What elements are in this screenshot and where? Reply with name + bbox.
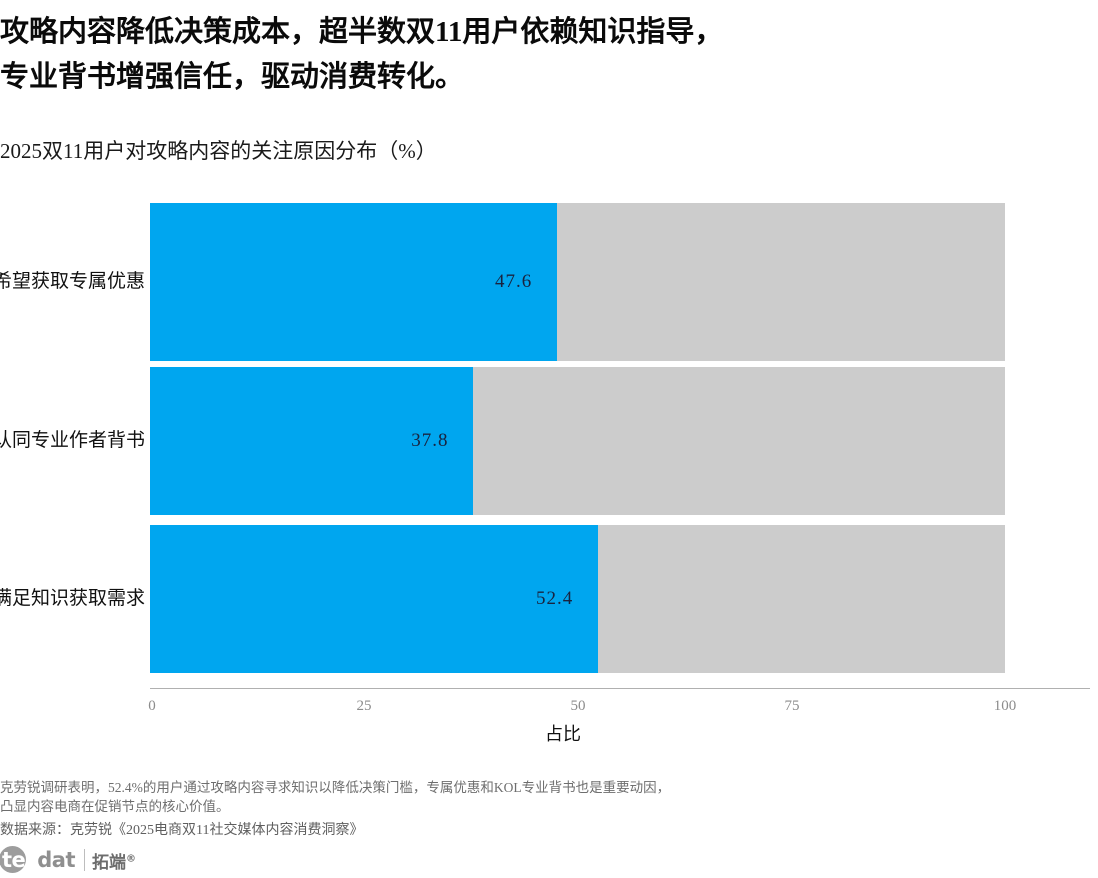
logo-mark: tecdat — [0, 845, 75, 875]
bar-value-label: 47.6 — [495, 271, 532, 293]
x-tick-label: 50 — [571, 698, 586, 715]
brand-logo: tecdat 拓端® — [0, 845, 136, 875]
category-label: 认同专业作者背书 — [0, 431, 143, 451]
bar-row: 52.4 — [150, 525, 1005, 673]
footer-note-line-1: 克劳锐调研表明，52.4%的用户通过攻略内容寻求知识以降低决策门槛，专属优惠和K… — [0, 778, 1090, 797]
bar-fill[interactable] — [150, 525, 598, 673]
bar-value-label: 37.8 — [411, 430, 448, 452]
registered-mark-icon: ® — [126, 853, 136, 864]
footer-source: 数据来源：克劳锐《2025电商双11社交媒体内容消费洞察》 — [0, 821, 1090, 840]
logo-chinese-name: 拓端® — [92, 848, 136, 873]
footer-note-line-2: 凸显内容电商在促销节点的核心价值。 — [0, 797, 1090, 816]
headline-line-1: 攻略内容降低决策成本，超半数双11用户依赖知识指导， — [0, 10, 1090, 55]
chart-plot-area: 47.6 希望获取专属优惠 37.8 认同专业作者背书 52.4 满足知识获取需… — [0, 195, 1098, 695]
x-axis-line — [150, 688, 1090, 689]
bar-row: 47.6 — [150, 203, 1005, 361]
logo-word-part-b: dat — [37, 848, 75, 872]
logo-wordmark: tecdat — [0, 848, 75, 872]
bar-row: 37.8 — [150, 367, 1005, 515]
footer-block: 克劳锐调研表明，52.4%的用户通过攻略内容寻求知识以降低决策门槛，专属优惠和K… — [0, 778, 1090, 840]
logo-divider — [84, 849, 85, 871]
x-tick-label: 100 — [994, 698, 1017, 715]
x-axis-title: 占比 — [0, 720, 1098, 746]
headline-block: 攻略内容降低决策成本，超半数双11用户依赖知识指导， 专业背书增强信任，驱动消费… — [0, 10, 1090, 100]
chart-subtitle: 2025双11用户对攻略内容的关注原因分布（%） — [0, 136, 437, 166]
category-label: 满足知识获取需求 — [0, 589, 143, 609]
x-tick-label: 25 — [357, 698, 372, 715]
bar-value-label: 52.4 — [536, 588, 573, 610]
x-tick-label: 75 — [785, 698, 800, 715]
x-tick-label: 0 — [148, 698, 156, 715]
category-label: 希望获取专属优惠 — [0, 272, 143, 292]
x-axis-title-text: 占比 — [545, 724, 581, 744]
logo-word-part-a: tec — [2, 848, 37, 872]
headline-line-2: 专业背书增强信任，驱动消费转化。 — [0, 55, 1090, 100]
logo-cn-text: 拓端 — [92, 853, 126, 873]
